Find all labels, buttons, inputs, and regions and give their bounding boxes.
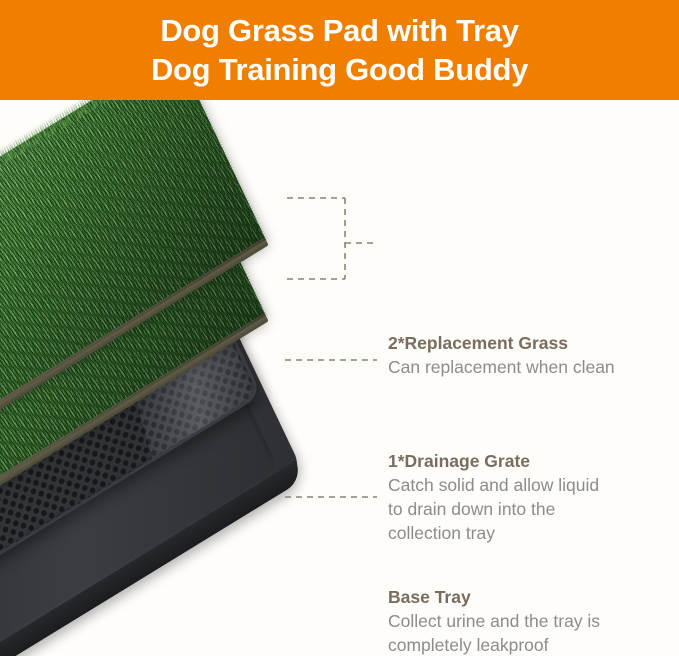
annotation-body-line: collection tray <box>388 521 673 545</box>
annotation-replacement-grass: 2*Replacement Grass Can replacement when… <box>388 331 673 379</box>
annotation-title: 2*Replacement Grass <box>388 331 673 355</box>
annotation-body-line: Can replacement when clean <box>388 355 673 379</box>
header-title-line-2: Dog Training Good Buddy <box>151 50 528 89</box>
annotation-body-line: Catch solid and allow liquid <box>388 473 673 497</box>
grass-edge-upper <box>169 100 270 243</box>
annotation-body-line: Collect urine and the tray is <box>388 609 673 633</box>
annotation-body-line: to drain down into the <box>388 497 673 521</box>
annotation-title: Base Tray <box>388 585 673 609</box>
header-title-line-1: Dog Grass Pad with Tray <box>160 11 518 50</box>
product-infographic: Dog Grass Pad with Tray Dog Training Goo… <box>0 0 679 656</box>
annotation-title: 1*Drainage Grate <box>388 449 673 473</box>
product-image <box>0 100 360 656</box>
annotation-base-tray: Base Tray Collect urine and the tray is … <box>388 585 673 656</box>
annotation-drainage-grate: 1*Drainage Grate Catch solid and allow l… <box>388 449 673 545</box>
annotation-body-line: completely leakproof <box>388 633 673 656</box>
grass-fringe-upper <box>0 100 180 267</box>
header-banner: Dog Grass Pad with Tray Dog Training Goo… <box>0 0 679 100</box>
